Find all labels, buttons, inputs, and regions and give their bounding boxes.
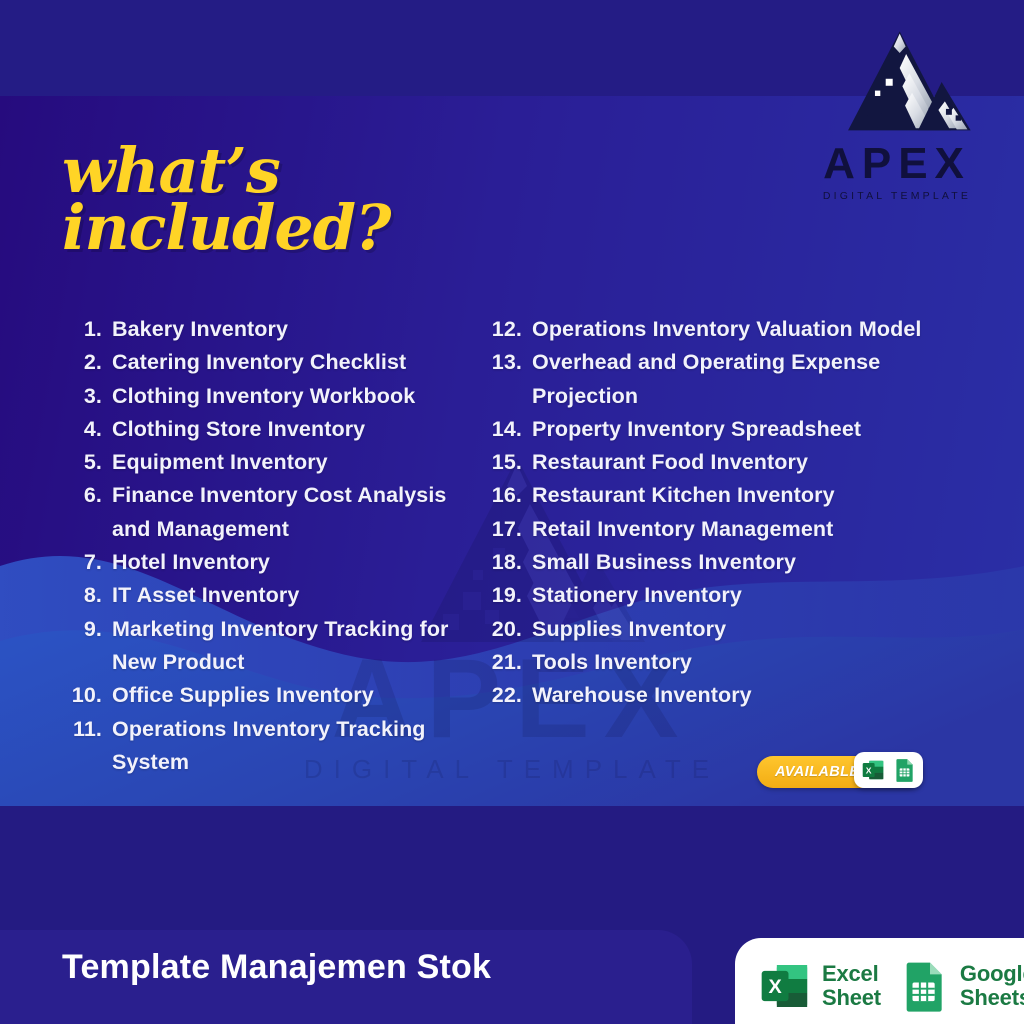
list-item-label: Retail Inventory Management [532,513,970,546]
list-item: 11.Operations Inventory Tracking System [68,713,470,780]
list-item-number: 19. [482,579,522,612]
list-item-number: 10. [68,679,102,712]
list-item-number: 4. [68,413,102,446]
footer-badge-sheets-label: Google Sheets [960,962,1024,1010]
headline-line-2: included? [62,199,391,256]
list-item-number: 20. [482,613,522,646]
list-item-label: Warehouse Inventory [532,679,970,712]
svg-text:X: X [768,976,782,998]
list-item: 12.Operations Inventory Valuation Model [482,313,970,346]
list-item-label: Marketing Inventory Tracking for New Pro… [112,613,470,680]
included-items-list: 1.Bakery Inventory2.Catering Inventory C… [0,313,1024,779]
list-item-label: Overhead and Operating Expense Projectio… [532,346,970,413]
list-item-label: Operations Inventory Tracking System [112,713,470,780]
list-item: 21.Tools Inventory [482,646,970,679]
list-item: 9.Marketing Inventory Tracking for New P… [68,613,470,680]
list-item: 2.Catering Inventory Checklist [68,346,470,379]
list-item-label: Restaurant Food Inventory [532,446,970,479]
list-item: 13.Overhead and Operating Expense Projec… [482,346,970,413]
list-item: 5.Equipment Inventory [68,446,470,479]
list-item: 10.Office Supplies Inventory [68,679,470,712]
list-item-label: Equipment Inventory [112,446,470,479]
footer-format-badges: X Excel Sheet Google Sheets [735,938,1024,1024]
list-item: 4.Clothing Store Inventory [68,413,470,446]
poster-canvas: APEX DIGITAL TEMPLATE [0,0,1024,1024]
list-item-label: Hotel Inventory [112,546,470,579]
list-item: 6.Finance Inventory Cost Analysis and Ma… [68,479,470,546]
list-item-number: 14. [482,413,522,446]
footer-badge-excel: X Excel Sheet [757,958,881,1014]
list-item-label: Clothing Store Inventory [112,413,470,446]
list-item-label: Stationery Inventory [532,579,970,612]
list-item: 14.Property Inventory Spreadsheet [482,413,970,446]
list-item-number: 13. [482,346,522,379]
list-column-left: 1.Bakery Inventory2.Catering Inventory C… [0,313,470,779]
footer-title: Template Manajemen Stok [62,948,491,987]
list-item-number: 15. [482,446,522,479]
list-item: 19.Stationery Inventory [482,579,970,612]
available-in-icons: X [854,752,923,788]
footer-badge-sheets: Google Sheets [895,958,1024,1014]
list-item-label: Finance Inventory Cost Analysis and Mana… [112,479,470,546]
list-item-number: 3. [68,380,102,413]
microsoft-excel-icon: X [860,757,886,783]
logo-title: APEX [812,142,982,186]
footer-badge-sheets-line1: Google [960,962,1024,986]
list-item-number: 22. [482,679,522,712]
footer-badge-sheets-line2: Sheets [960,986,1024,1010]
list-item-number: 9. [68,613,102,646]
footer-badge-excel-label: Excel Sheet [822,962,881,1010]
list-item-number: 5. [68,446,102,479]
list-item: 18.Small Business Inventory [482,546,970,579]
list-item-label: Tools Inventory [532,646,970,679]
list-item-number: 17. [482,513,522,546]
list-item-label: Small Business Inventory [532,546,970,579]
google-sheets-icon [895,958,951,1014]
list-item: 20.Supplies Inventory [482,613,970,646]
list-item: 15.Restaurant Food Inventory [482,446,970,479]
footer-badge-excel-line2: Sheet [822,986,881,1010]
available-in-badge: AVAILABLE IN X [757,752,923,792]
list-item-label: Catering Inventory Checklist [112,346,470,379]
apex-mountain-logo-icon [819,26,975,138]
list-item-label: Supplies Inventory [532,613,970,646]
page-title: what’s included? [62,142,391,256]
list-item-number: 16. [482,479,522,512]
list-item-number: 6. [68,479,102,512]
list-item-label: Bakery Inventory [112,313,470,346]
list-item: 17.Retail Inventory Management [482,513,970,546]
list-item-number: 2. [68,346,102,379]
list-item-label: Operations Inventory Valuation Model [532,313,970,346]
list-item-label: Property Inventory Spreadsheet [532,413,970,446]
list-item: 3.Clothing Inventory Workbook [68,380,470,413]
list-item-number: 11. [68,713,102,746]
list-item-label: IT Asset Inventory [112,579,470,612]
list-item: 22.Warehouse Inventory [482,679,970,712]
logo-tagline: DIGITAL TEMPLATE [812,190,982,202]
microsoft-excel-icon: X [757,958,813,1014]
list-item-number: 18. [482,546,522,579]
list-item: 7.Hotel Inventory [68,546,470,579]
list-item-number: 21. [482,646,522,679]
list-item-number: 1. [68,313,102,346]
list-column-right: 12.Operations Inventory Valuation Model1… [470,313,970,779]
footer-badge-excel-line1: Excel [822,962,881,986]
google-sheets-icon [891,757,917,783]
list-item-number: 8. [68,579,102,612]
list-item: 16.Restaurant Kitchen Inventory [482,479,970,512]
list-item-number: 12. [482,313,522,346]
svg-text:X: X [866,765,872,775]
list-item-number: 7. [68,546,102,579]
list-item-label: Restaurant Kitchen Inventory [532,479,970,512]
apex-logo: APEX DIGITAL TEMPLATE [812,26,982,202]
list-item: 1.Bakery Inventory [68,313,470,346]
list-item-label: Clothing Inventory Workbook [112,380,470,413]
list-item-label: Office Supplies Inventory [112,679,470,712]
list-item: 8.IT Asset Inventory [68,579,470,612]
